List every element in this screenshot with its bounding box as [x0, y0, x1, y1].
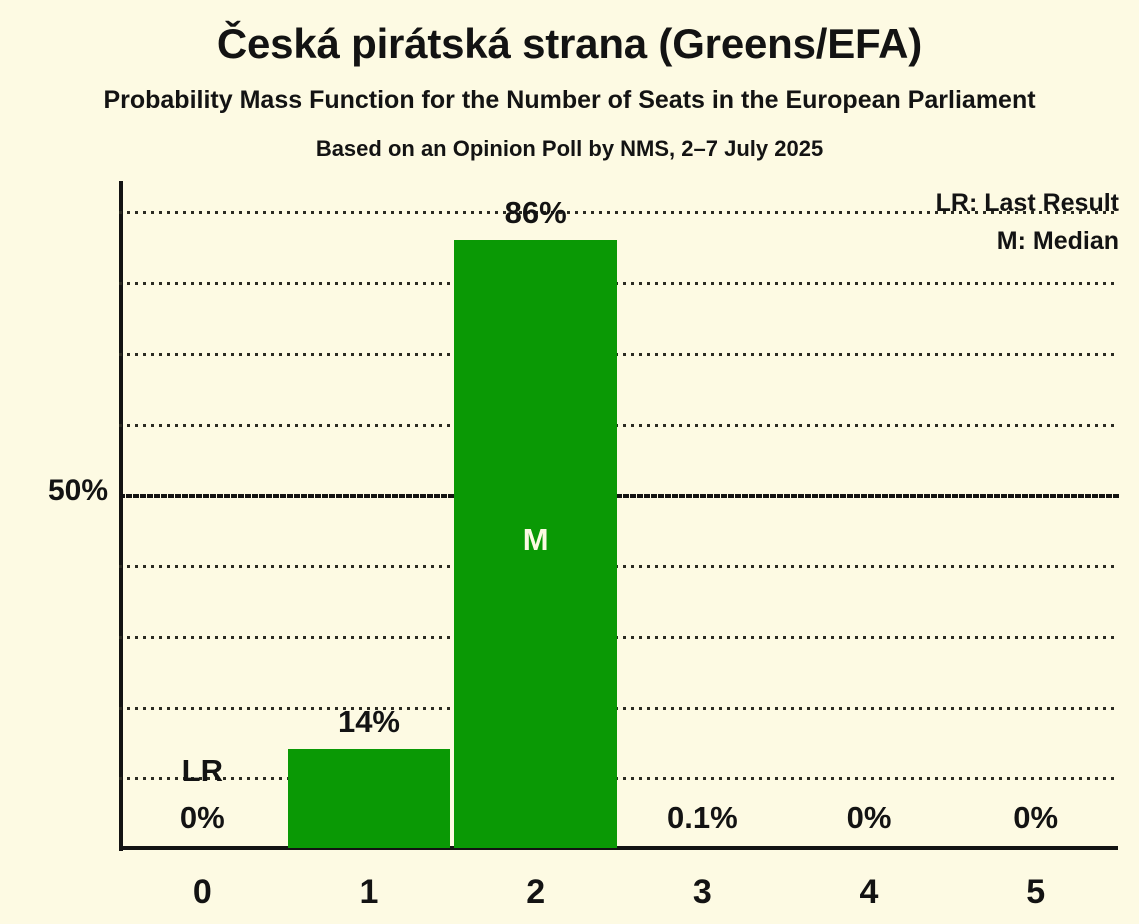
- gridline-80: [119, 282, 1119, 285]
- x-tick-label-2: 2: [452, 873, 619, 912]
- plot-area: [119, 181, 1119, 848]
- page-title: Česká pirátská strana (Greens/EFA): [0, 20, 1139, 68]
- chart-source-line: Based on an Opinion Poll by NMS, 2–7 Jul…: [0, 136, 1139, 162]
- x-tick-label-3: 3: [619, 873, 786, 912]
- marker-m-seat-2: M: [452, 522, 619, 558]
- value-label-seat-0: 0%: [119, 800, 286, 836]
- marker-lr-seat-0: LR: [119, 753, 286, 789]
- value-label-seat-1: 14%: [286, 704, 453, 740]
- gridline-70: [119, 353, 1119, 356]
- x-tick-label-4: 4: [786, 873, 953, 912]
- x-tick-label-0: 0: [119, 873, 286, 912]
- value-label-seat-2: 86%: [452, 195, 619, 231]
- x-tick-label-5: 5: [952, 873, 1119, 912]
- gridline-major-50: [119, 494, 1119, 498]
- value-label-seat-5: 0%: [952, 800, 1119, 836]
- value-label-seat-4: 0%: [786, 800, 953, 836]
- chart-subtitle: Probability Mass Function for the Number…: [0, 86, 1139, 115]
- gridline-40: [119, 565, 1119, 568]
- y-axis-tick-label-50: 50%: [22, 474, 108, 508]
- chart-page: Česká pirátská strana (Greens/EFA) Proba…: [0, 0, 1139, 924]
- gridline-90: [119, 211, 1119, 214]
- value-label-seat-3: 0.1%: [619, 800, 786, 836]
- gridline-60: [119, 424, 1119, 427]
- gridline-30: [119, 636, 1119, 639]
- x-tick-label-1: 1: [286, 873, 453, 912]
- gridline-20: [119, 707, 1119, 710]
- bar-seat-1: [288, 749, 451, 848]
